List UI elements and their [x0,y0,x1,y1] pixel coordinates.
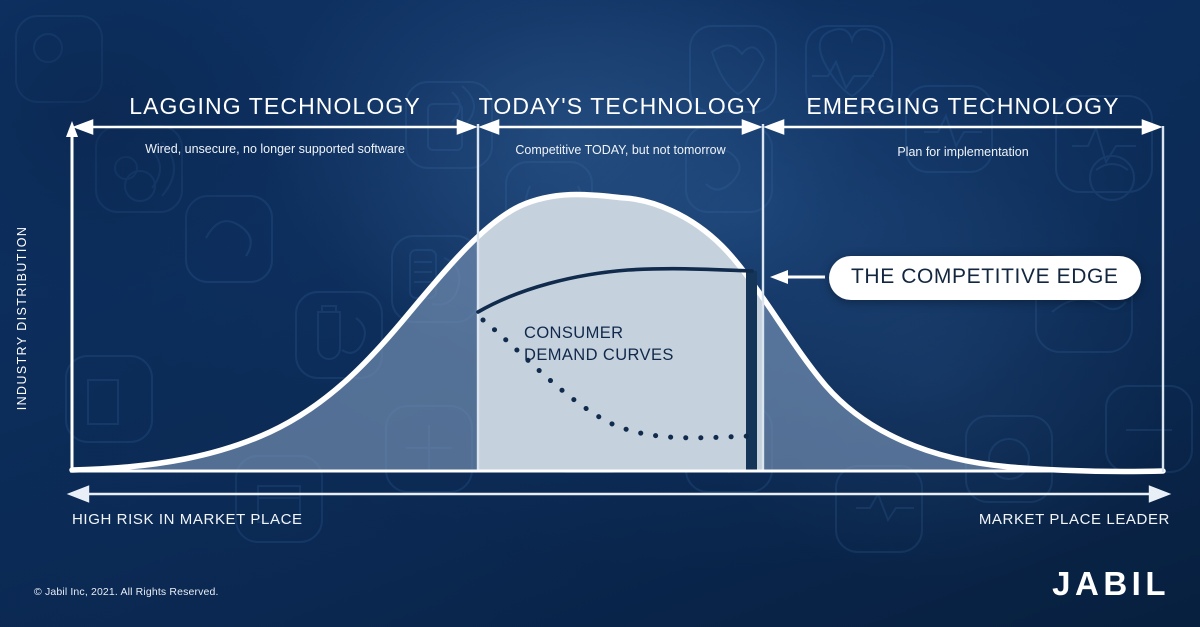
arrow-head-today-right [743,121,759,133]
jabil-logo: JABIL [1052,565,1170,603]
arrow-head-lagging-left [76,121,92,133]
section-subtitle-today: Competitive TODAY, but not tomorrow [478,141,763,159]
arrow-head-x-left [70,487,88,501]
y-axis-arrowhead [66,121,78,137]
x-axis-direction-arrows [70,487,1168,501]
section-title-today: TODAY'S TECHNOLOGY [478,93,763,120]
arrow-head-emerging-right [1143,121,1159,133]
section-subtitle-lagging: Wired, unsecure, no longer supported sof… [90,140,460,158]
competitive-edge-callout: THE COMPETITIVE EDGE [829,256,1141,300]
x-axis-label-left: HIGH RISK IN MARKET PLACE [72,511,303,528]
arrow-head-emerging-left [767,121,783,133]
competitive-edge-bar [746,271,757,472]
section-subtitle-emerging: Plan for implementation [763,143,1163,161]
callout-arrow [770,270,825,284]
arrow-head-today-left [482,121,498,133]
callout-arrow-head [770,270,788,284]
section-title-emerging: EMERGING TECHNOLOGY [763,93,1163,120]
arrow-head-x-right [1150,487,1168,501]
copyright-text: © Jabil Inc, 2021. All Rights Reserved. [34,586,219,598]
consumer-demand-curves-label: CONSUMER DEMAND CURVES [524,322,674,367]
y-axis-label: INDUSTRY DISTRIBUTION [15,226,29,411]
infographic-canvas: LAGGING TECHNOLOGY Wired, unsecure, no l… [0,0,1200,627]
section-title-lagging: LAGGING TECHNOLOGY [72,93,478,120]
x-axis-label-right: MARKET PLACE LEADER [979,511,1170,528]
section-range-arrows [76,121,1159,133]
arrow-head-lagging-right [458,121,474,133]
